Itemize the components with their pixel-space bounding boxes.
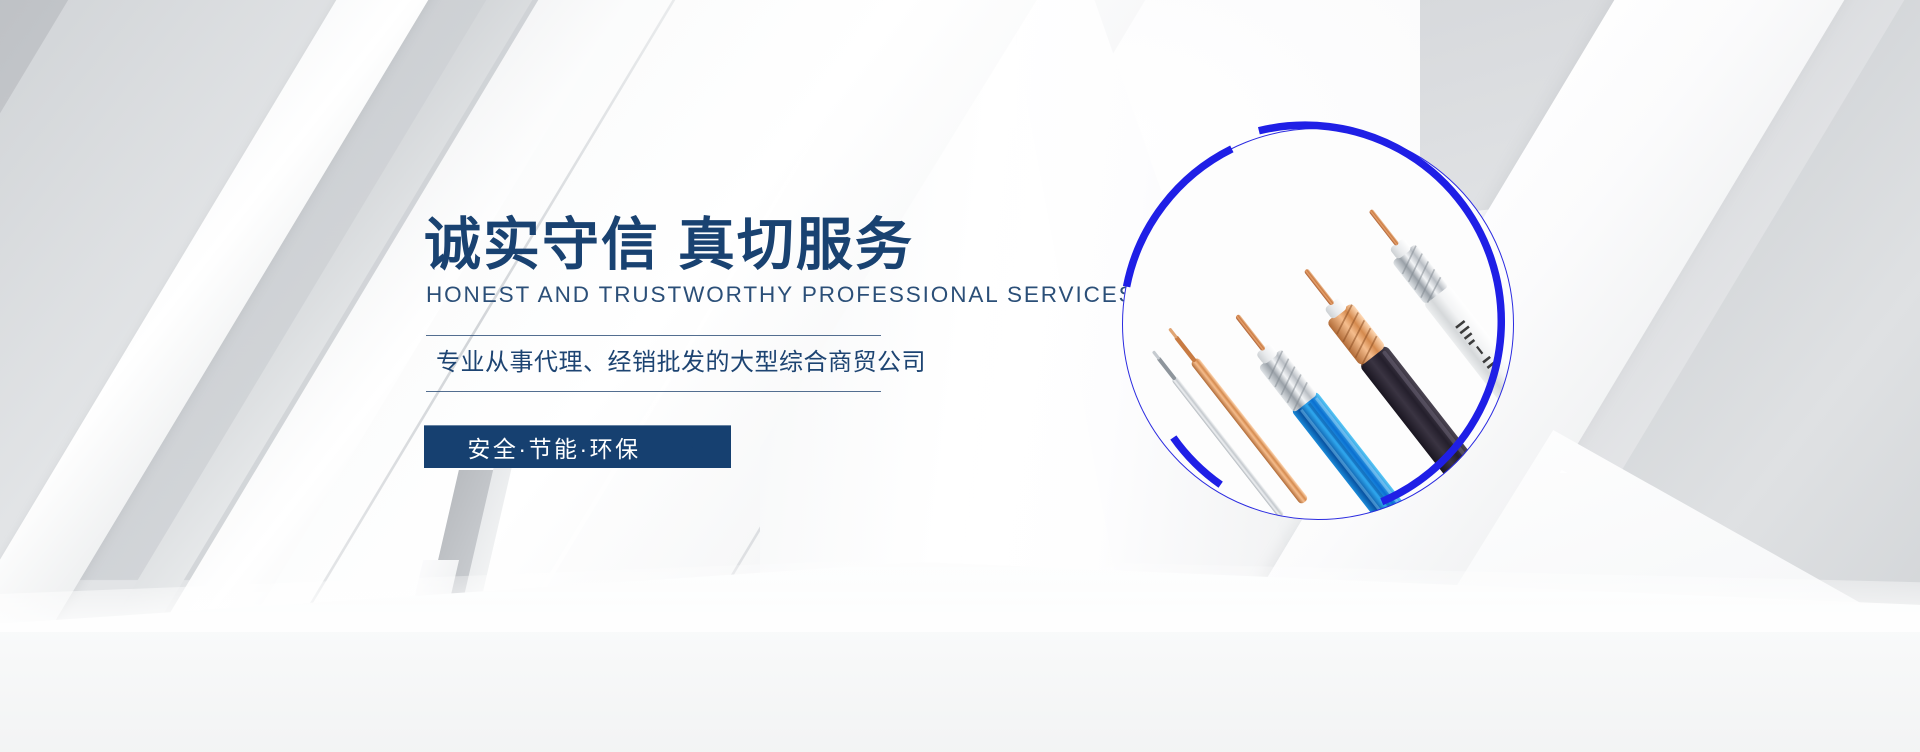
blue-ring-arcs [1088, 94, 1548, 554]
divider-bottom [426, 391, 881, 392]
hero-banner: 诚实守信 真切服务 HONEST AND TRUSTWORTHY PROFESS… [0, 0, 1920, 752]
product-circle [1122, 128, 1514, 520]
badge-label: 安全·节能·环保 [424, 425, 684, 468]
hero-text-block: 诚实守信 真切服务 HONEST AND TRUSTWORTHY PROFESS… [424, 212, 1064, 473]
page-title: 诚实守信 真切服务 [424, 212, 1064, 279]
badge-container: 安全·节能·环保 [424, 425, 1064, 473]
divider-top [426, 335, 881, 336]
status-badge: 安全·节能·环保 [424, 425, 731, 468]
subtitle-chinese: 专业从事代理、经销批发的大型综合商贸公司 [424, 336, 1064, 391]
subtitle-english: HONEST AND TRUSTWORTHY PROFESSIONAL SERV… [426, 281, 1064, 309]
